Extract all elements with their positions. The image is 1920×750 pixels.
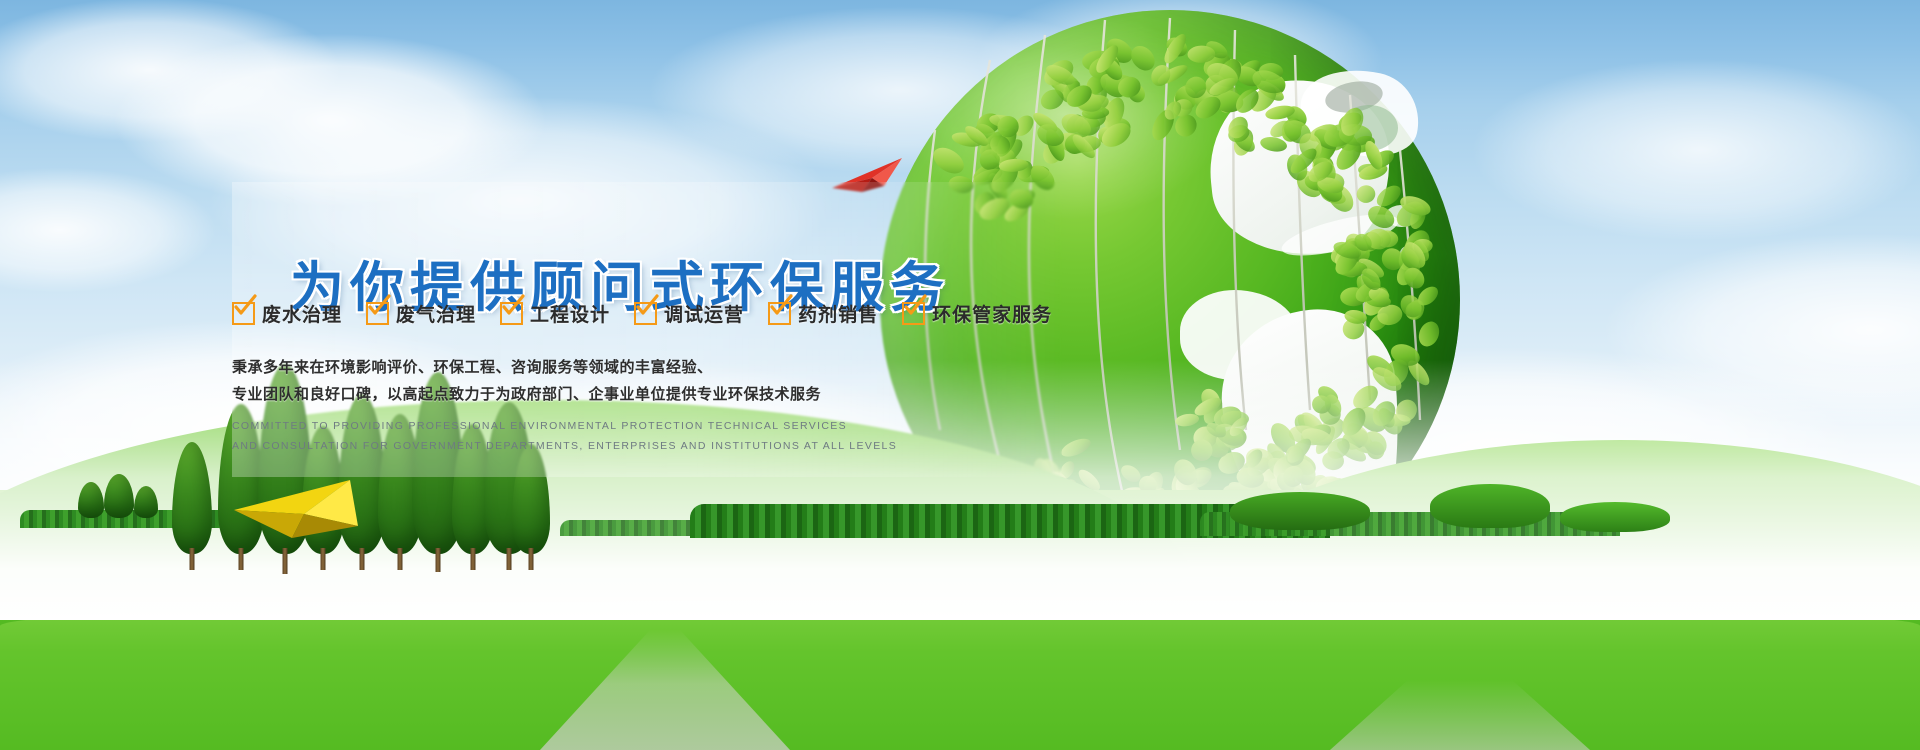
description-line: 秉承多年来在环境影响评价、环保工程、咨询服务等领域的丰富经验、 (232, 354, 1072, 381)
banner-content: 为你提供顾问式环保服务 废水治理 废气治理 工程设计 (232, 182, 1132, 477)
feature-item-env-steward-service[interactable]: 环保管家服务 (902, 300, 1052, 327)
tree-9 (172, 442, 212, 554)
feature-list: 废水治理 废气治理 工程设计 调试运营 (232, 300, 1132, 327)
english-subtitle: COMMITTED TO PROVIDING PROFESSIONAL ENVI… (232, 416, 1072, 456)
feature-label: 废水治理 (262, 300, 342, 327)
english-line: AND CONSULTATION FOR GOVERNMENT DEPARTME… (232, 436, 1072, 456)
feature-label: 药剂销售 (798, 300, 878, 327)
tree-far-left-3 (134, 486, 158, 518)
checkbox-checked-icon (232, 302, 255, 325)
yellow-paper-plane-icon (232, 474, 362, 550)
checkbox-checked-icon (500, 302, 523, 325)
feature-label: 工程设计 (530, 300, 610, 327)
feature-item-wastewater[interactable]: 废水治理 (232, 300, 342, 327)
feature-label: 废气治理 (396, 300, 476, 327)
checkbox-checked-icon (768, 302, 791, 325)
tree-far-left-1 (78, 482, 104, 518)
checkbox-checked-icon (634, 302, 657, 325)
shrub-globe-right (1560, 502, 1670, 532)
english-line: COMMITTED TO PROVIDING PROFESSIONAL ENVI… (232, 416, 1072, 436)
feature-item-engineering-design[interactable]: 工程设计 (500, 300, 610, 327)
foreground-lawn (0, 600, 1920, 750)
feature-label: 调试运营 (664, 300, 744, 327)
feature-label: 环保管家服务 (932, 300, 1052, 327)
checkbox-checked-icon (366, 302, 389, 325)
checkbox-checked-icon (902, 302, 925, 325)
feature-item-waste-gas[interactable]: 废气治理 (366, 300, 476, 327)
shrub-under-globe (1430, 484, 1550, 528)
description-line: 专业团队和良好口碑，以高起点致力于为政府部门、企事业单位提供专业环保技术服务 (232, 381, 1072, 408)
environmental-banner: 为你提供顾问式环保服务 废水治理 废气治理 工程设计 (0, 0, 1920, 750)
description-text: 秉承多年来在环境影响评价、环保工程、咨询服务等领域的丰富经验、 专业团队和良好口… (232, 354, 1072, 408)
feature-item-chemical-sales[interactable]: 药剂销售 (768, 300, 878, 327)
shrub-globe-left (1230, 492, 1370, 530)
tree-far-left-2 (104, 474, 134, 518)
feature-item-commissioning[interactable]: 调试运营 (634, 300, 744, 327)
